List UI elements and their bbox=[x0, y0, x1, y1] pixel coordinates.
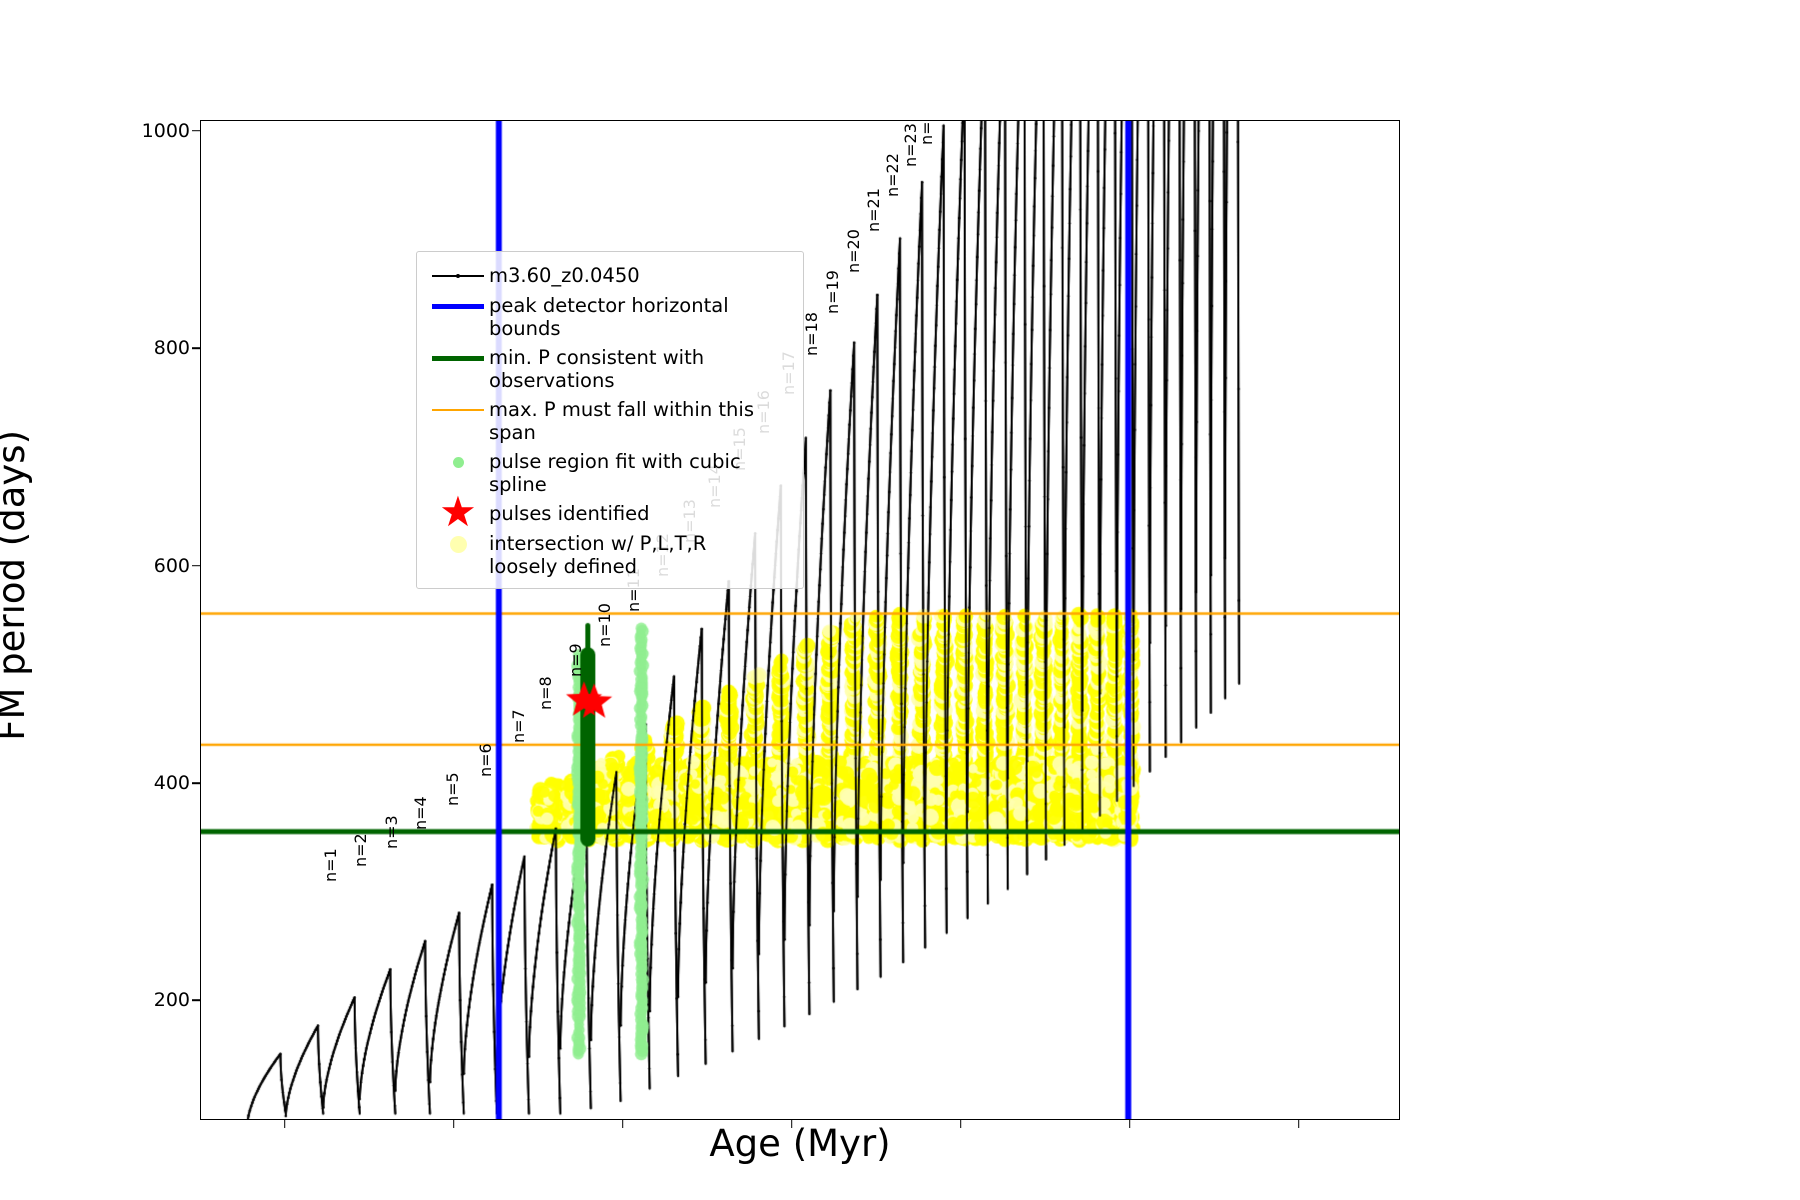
legend-entry-series: m3.60_z0.0450 bbox=[427, 264, 793, 288]
line-marker-icon bbox=[427, 264, 489, 288]
pulse-index-label: n=7 bbox=[509, 709, 528, 743]
x-tick-mark bbox=[791, 1120, 793, 1128]
pulse-index-label: n=21 bbox=[864, 188, 883, 232]
pulse-index-label: n=5 bbox=[443, 772, 462, 806]
y-tick-mark bbox=[192, 347, 200, 349]
x-tick-mark bbox=[622, 1120, 624, 1128]
legend-label: pulses identified bbox=[489, 502, 650, 525]
pulse-index-label: n=4 bbox=[411, 796, 430, 830]
legend-entry-pulses: ★ pulses identified bbox=[427, 502, 793, 526]
pulse-index-label: n=3 bbox=[382, 815, 401, 849]
x-tick-mark bbox=[1298, 1120, 1300, 1128]
y-tick-mark bbox=[192, 130, 200, 132]
pulse-index-label: n=18 bbox=[802, 312, 821, 356]
legend-label: m3.60_z0.0450 bbox=[489, 264, 640, 287]
pulse-index-label: n=20 bbox=[844, 229, 863, 273]
legend-label: pulse region fit with cubic spline bbox=[489, 450, 793, 496]
legend-label-line2: loosely defined bbox=[489, 555, 706, 578]
y-tick-label: 800 bbox=[154, 337, 190, 359]
y-tick-mark bbox=[192, 1000, 200, 1002]
legend-label: max. P must fall within this span bbox=[489, 398, 793, 444]
legend: m3.60_z0.0450 peak detector horizontal b… bbox=[416, 251, 804, 589]
y-tick-mark bbox=[192, 782, 200, 784]
legend-entry-peak-detector: peak detector horizontal bounds bbox=[427, 294, 793, 340]
x-tick-mark bbox=[1129, 1120, 1131, 1128]
pulse-index-label: n=9 bbox=[566, 644, 585, 678]
pulse-index-label: n=1 bbox=[321, 848, 340, 882]
legend-entry-min-period: min. P consistent with observations bbox=[427, 346, 793, 392]
pulse-index-label: n=19 bbox=[823, 271, 842, 315]
y-tick-label: 1000 bbox=[142, 120, 190, 142]
pulse-index-label: n=6 bbox=[476, 744, 495, 778]
legend-label: peak detector horizontal bounds bbox=[489, 294, 793, 340]
red-star-icon: ★ bbox=[427, 502, 489, 526]
pulse-index-label: n=2 bbox=[351, 833, 370, 867]
figure-canvas: FM period (days) Age (Myr) 2004006008001… bbox=[0, 0, 1800, 1200]
y-axis-label: FM period (days) bbox=[0, 430, 33, 741]
y-tick-label: 200 bbox=[154, 989, 190, 1011]
x-axis-label: Age (Myr) bbox=[200, 1122, 1400, 1165]
legend-label: intersection w/ P,L,T,R bbox=[489, 532, 706, 555]
x-tick-mark bbox=[453, 1120, 455, 1128]
pulse-index-label: n=22 bbox=[883, 153, 902, 197]
y-tick-mark bbox=[192, 565, 200, 567]
pulse-index-label: n=24 bbox=[917, 120, 936, 145]
pulse-index-label: n=8 bbox=[536, 676, 555, 710]
yellow-dot-icon bbox=[427, 532, 489, 556]
blue-line-icon bbox=[427, 294, 489, 318]
legend-entry-max-period: max. P must fall within this span bbox=[427, 398, 793, 444]
legend-entry-spline: pulse region fit with cubic spline bbox=[427, 450, 793, 496]
orange-line-icon bbox=[427, 398, 489, 422]
legend-label: min. P consistent with observations bbox=[489, 346, 793, 392]
plot-area: n=1n=2n=3n=4n=5n=6n=7n=8n=9n=10n=11n=12n… bbox=[200, 120, 1400, 1120]
green-line-icon bbox=[427, 346, 489, 370]
x-tick-mark bbox=[960, 1120, 962, 1128]
x-tick-mark bbox=[284, 1120, 286, 1128]
y-tick-label: 600 bbox=[154, 555, 190, 577]
pulse-index-label: n=10 bbox=[595, 603, 614, 647]
green-dot-icon bbox=[427, 450, 489, 474]
y-tick-label: 400 bbox=[154, 772, 190, 794]
legend-entry-intersection: intersection w/ P,L,T,R loosely defined bbox=[427, 532, 793, 578]
